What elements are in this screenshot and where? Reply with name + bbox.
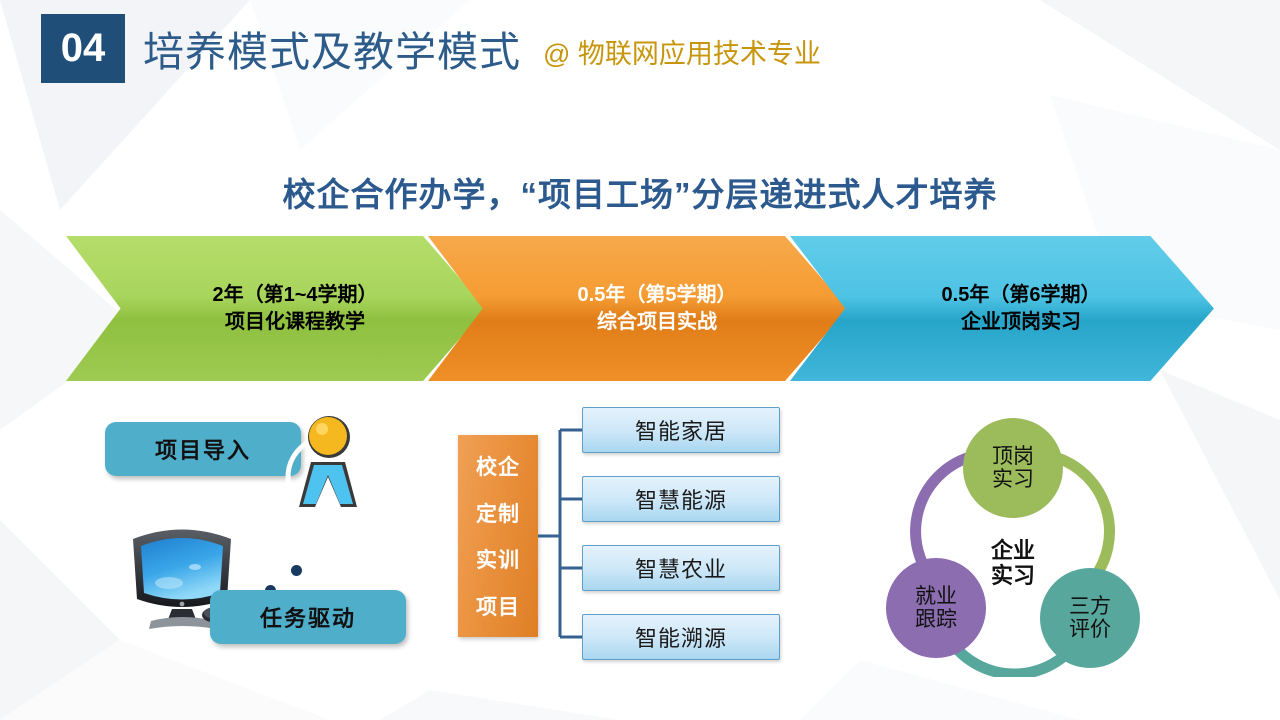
cycle-node-right-line-2: 评价 bbox=[1069, 618, 1111, 641]
cycle-node-top: 顶岗 实习 bbox=[963, 418, 1063, 518]
stage-arrow-row: 2年（第1~4学期） 项目化课程教学 0.5年（第5学期） 综合项目实战 0.5… bbox=[0, 236, 1280, 381]
main-heading: 校企合作办学，“项目工场”分层递进式人才培养 bbox=[0, 168, 1280, 216]
cycle-node-top-line-2: 实习 bbox=[992, 468, 1034, 491]
cycle-center-line-2: 实习 bbox=[991, 563, 1035, 588]
slide-header: 04 培养模式及教学模式 @ 物联网应用技术专业 bbox=[0, 0, 1280, 96]
cycle-center-line-1: 企业 bbox=[991, 538, 1035, 563]
stage-arrow-2: 0.5年（第5学期） 综合项目实战 bbox=[428, 236, 848, 381]
stage-arrow-1: 2年（第1~4学期） 项目化课程教学 bbox=[66, 236, 486, 381]
training-project-item: 智慧农业 bbox=[582, 545, 780, 591]
tree-connector-lines bbox=[538, 405, 588, 667]
stage-3-duration: 0.5年（第6学期） bbox=[942, 282, 1101, 309]
cycle-node-right-line-1: 三方 bbox=[1069, 595, 1111, 618]
stage-arrow-3: 0.5年（第6学期） 企业顶岗实习 bbox=[790, 236, 1214, 381]
page-title: 培养模式及教学模式 bbox=[143, 18, 521, 78]
training-project-tree: 校企 定制 实训 项目 智能家居 智慧能源 智慧农业 智能溯源 bbox=[458, 405, 798, 667]
root-line-2: 定制 bbox=[476, 498, 520, 528]
teaching-method-cluster: 项目导入 bbox=[95, 405, 425, 665]
person-icon bbox=[283, 411, 373, 511]
task-driven-label: 任务驱动 bbox=[210, 590, 406, 644]
training-project-item: 智能家居 bbox=[582, 407, 780, 453]
root-line-4: 项目 bbox=[476, 591, 520, 621]
stage-2-activity: 综合项目实战 bbox=[597, 309, 717, 336]
training-project-item: 智能溯源 bbox=[582, 614, 780, 660]
internship-cycle-diagram: 顶岗 实习 就业 跟踪 三方 评价 企业 实习 bbox=[880, 412, 1180, 677]
root-line-3: 实训 bbox=[476, 544, 520, 574]
training-project-item: 智慧能源 bbox=[582, 476, 780, 522]
section-number-badge: 04 bbox=[41, 14, 125, 83]
stage-2-duration: 0.5年（第5学期） bbox=[578, 282, 737, 309]
cycle-center-label: 企业 实习 bbox=[953, 532, 1073, 594]
stage-3-activity: 企业顶岗实习 bbox=[961, 309, 1081, 336]
cycle-node-left-line-2: 跟踪 bbox=[915, 608, 957, 631]
stage-1-duration: 2年（第1~4学期） bbox=[212, 282, 377, 309]
cycle-node-left-line-1: 就业 bbox=[915, 585, 957, 608]
root-line-1: 校企 bbox=[476, 451, 520, 481]
page-subtitle: @ 物联网应用技术专业 bbox=[543, 26, 821, 71]
project-intro-label: 项目导入 bbox=[105, 422, 301, 476]
training-tree-root: 校企 定制 实训 项目 bbox=[458, 435, 538, 637]
stage-1-activity: 项目化课程教学 bbox=[225, 309, 365, 336]
cycle-node-top-line-1: 顶岗 bbox=[992, 445, 1034, 468]
